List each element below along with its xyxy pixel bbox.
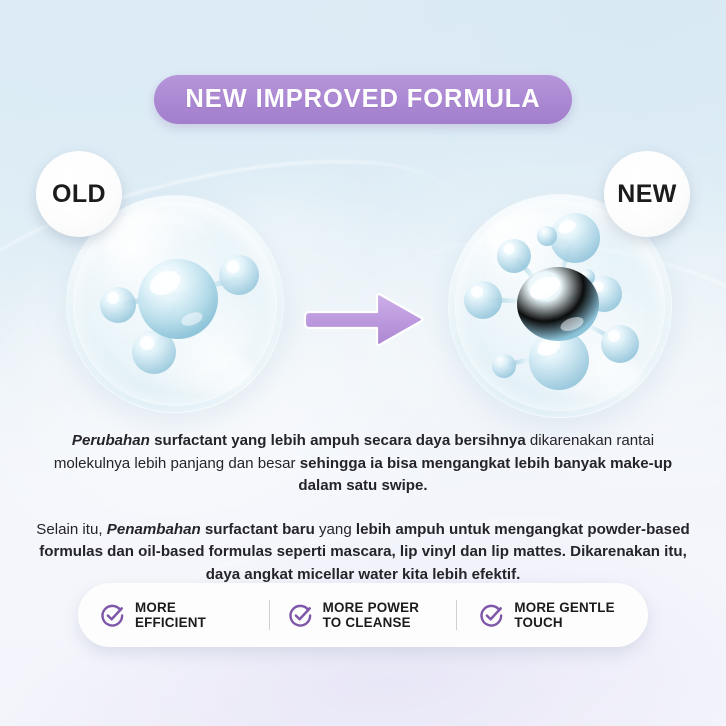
poster-canvas: NEW IMPROVED FORMULA (0, 0, 726, 726)
badge-old: OLD (36, 151, 122, 237)
benefits-bar: MORE EFFICIENT MORE POWER TO CLEANSE MOR… (78, 583, 648, 647)
check-circle-icon (479, 603, 504, 628)
copy-span: Penambahan (107, 521, 201, 538)
benefit-item-0[interactable]: MORE EFFICIENT (78, 600, 269, 631)
benefit-label-2: MORE GENTLE TOUCH (514, 600, 614, 631)
transition-arrow (303, 292, 425, 347)
copy-span: surfactant baru (201, 521, 315, 538)
copy-span: surfactant yang lebih ampuh secara daya … (150, 432, 526, 449)
body-copy: Perubahan surfactant yang lebih ampuh se… (0, 430, 726, 586)
copy-span: Perubahan (72, 432, 150, 449)
header-banner: NEW IMPROVED FORMULA (154, 75, 572, 124)
check-circle-icon (100, 603, 125, 628)
benefit-item-2[interactable]: MORE GENTLE TOUCH (457, 600, 648, 631)
check-circle-icon (288, 603, 313, 628)
badge-new: NEW (604, 151, 690, 237)
banner-title: NEW IMPROVED FORMULA (185, 85, 540, 114)
paragraph-2: Selain itu, Penambahan surfactant baru y… (36, 519, 690, 587)
copy-span: Selain itu, (36, 521, 106, 538)
benefit-item-1[interactable]: MORE POWER TO CLEANSE (270, 600, 457, 631)
badge-old-label: OLD (52, 180, 106, 209)
benefit-label-1: MORE POWER TO CLEANSE (323, 600, 419, 631)
benefit-label-0: MORE EFFICIENT (135, 600, 206, 631)
copy-span: yang (315, 521, 356, 538)
badge-new-label: NEW (617, 180, 677, 209)
copy-span: sehingga ia bisa mengangkat lebih banyak… (298, 455, 672, 495)
paragraph-1: Perubahan surfactant yang lebih ampuh se… (36, 430, 690, 498)
